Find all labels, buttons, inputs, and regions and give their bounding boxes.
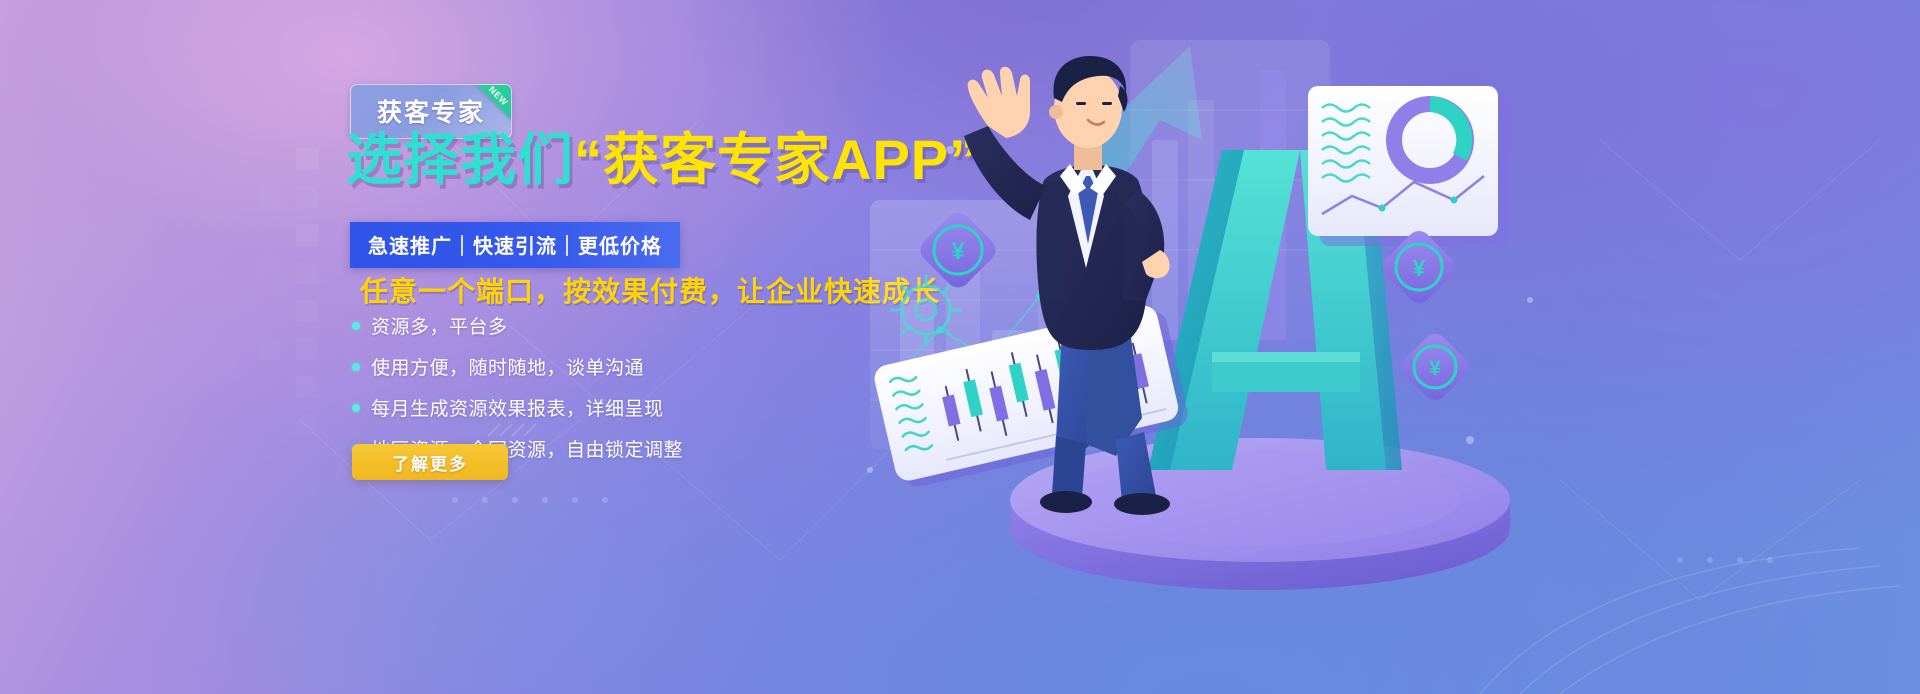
letter-a-pedestal	[1010, 438, 1510, 590]
list-item: 使用方便，随时随地，谈单沟通	[352, 353, 683, 380]
list-item-label: 每月生成资源效果报表，详细呈现	[371, 394, 664, 421]
list-item-label: 使用方便，随时随地，谈单沟通	[371, 353, 644, 380]
hero-illustration: ¥ ¥ ¥	[830, 0, 1920, 694]
list-item: 每月生成资源效果报表，详细呈现	[352, 394, 683, 421]
learn-more-button[interactable]: 了解更多	[352, 444, 508, 480]
list-item: 资源多，平台多	[352, 312, 683, 339]
bullet-dot-icon	[352, 363, 360, 371]
bullet-dot-icon	[352, 404, 360, 412]
coin-badge-yen-3: ¥	[1397, 329, 1473, 405]
svg-text:¥: ¥	[951, 238, 965, 265]
svg-text:¥: ¥	[1413, 255, 1426, 281]
headline-part-primary: 选择我们	[346, 128, 574, 191]
feature-bar: 急速推广｜快速引流｜更低价格	[350, 222, 680, 268]
donut-chart-card	[1308, 86, 1510, 246]
product-badge-label: 获客专家	[377, 99, 485, 127]
promo-banner: 获客专家 NEW 选择我们“获客专家APP” 急速推广｜快速引流｜更低价格 任意…	[0, 0, 1920, 694]
list-item-label: 资源多，平台多	[371, 312, 508, 339]
feature-bar-text: 急速推广｜快速引流｜更低价格	[368, 236, 662, 258]
bullet-dot-icon	[352, 322, 360, 330]
waving-hand	[968, 67, 1030, 138]
svg-text:¥: ¥	[1429, 357, 1441, 380]
learn-more-button-label: 了解更多	[392, 450, 468, 475]
